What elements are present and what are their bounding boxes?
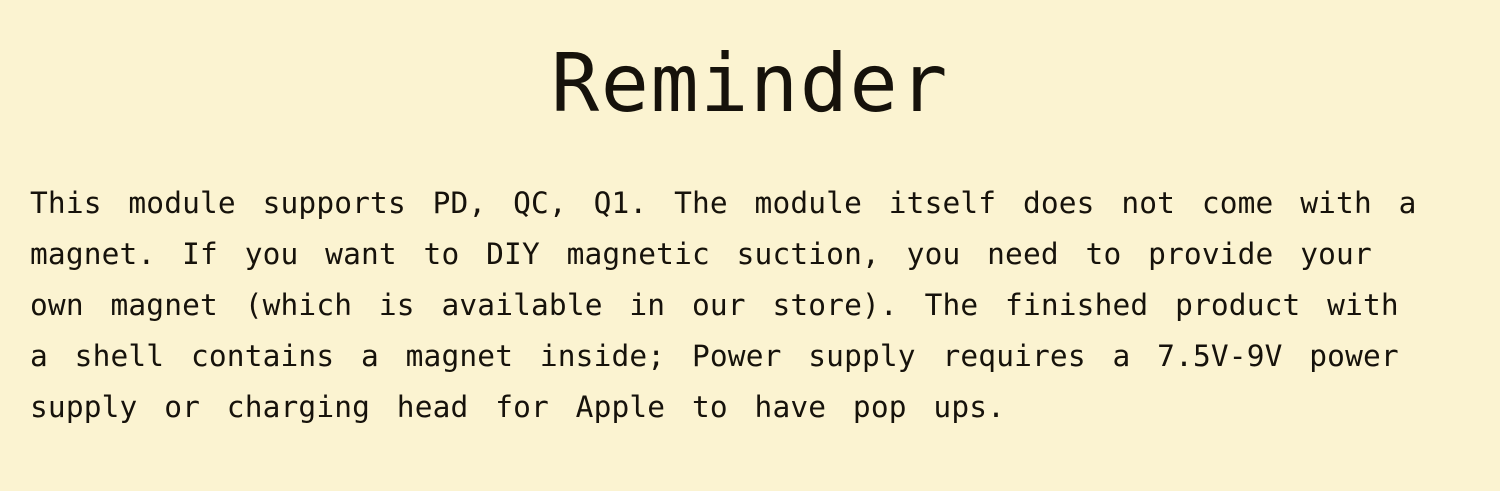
body-line: own magnet (which is available in our st… — [30, 280, 1488, 331]
body-line: supply or charging head for Apple to hav… — [30, 382, 1488, 433]
body-line: This module supports PD, QC, Q1. The mod… — [30, 178, 1488, 229]
body-line: magnet. If you want to DIY magnetic suct… — [30, 229, 1488, 280]
reminder-notice-card: Reminder This module supports PD, QC, Q1… — [0, 0, 1500, 491]
notice-body-text: This module supports PD, QC, Q1. The mod… — [30, 178, 1488, 433]
page-title: Reminder — [0, 36, 1500, 132]
body-line: a shell contains a magnet inside; Power … — [30, 331, 1488, 382]
